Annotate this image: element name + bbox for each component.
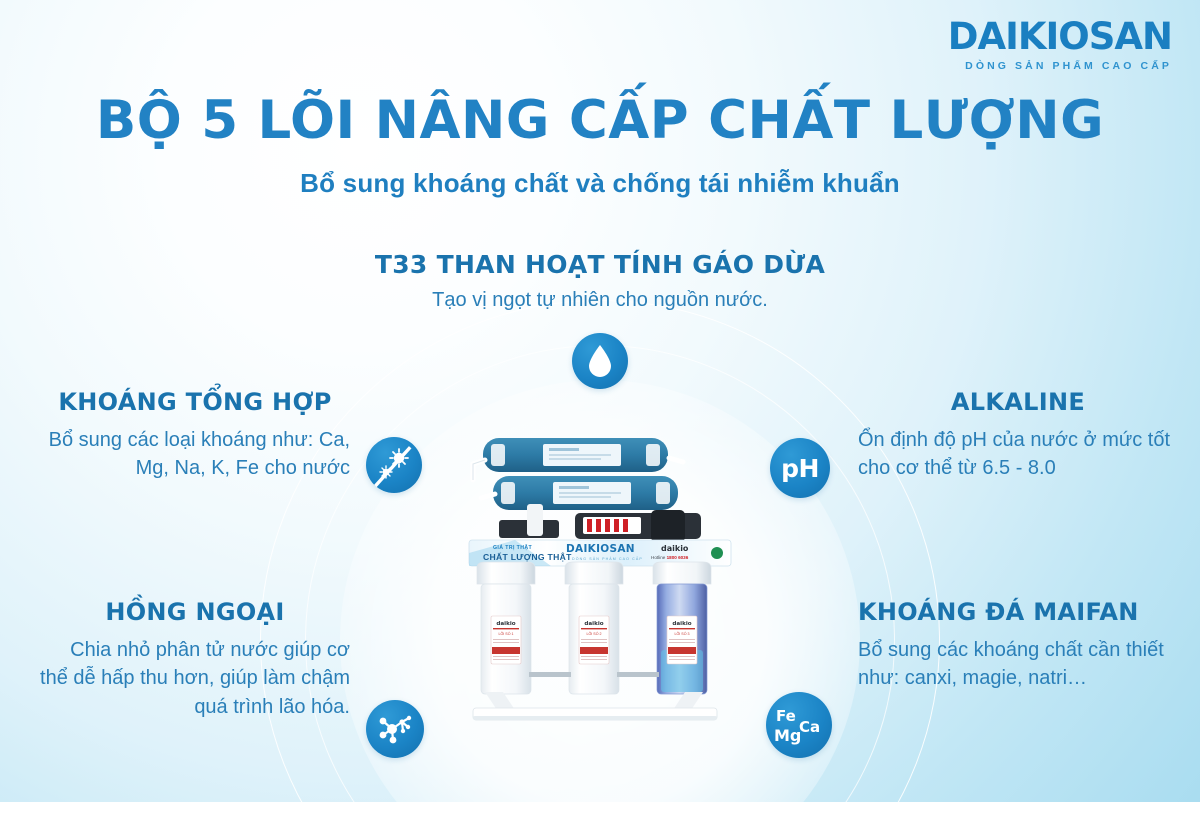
feature-description: Bổ sung các khoáng chất cần thiết như: c… [858, 636, 1178, 693]
svg-text:GIÁ TRỊ THẬT: GIÁ TRỊ THẬT [493, 544, 533, 551]
svg-text:daikio: daikio [496, 621, 515, 627]
feature-title: KHOÁNG TỔNG HỢP [40, 388, 350, 416]
svg-text:daikio: daikio [584, 621, 603, 627]
mineral-label-fe: Fe [776, 709, 796, 724]
water-purifier-product-image: GIÁ TRỊ THẬT CHẤT LƯỢNG THẬT DAIKIOSAN D… [455, 420, 745, 740]
feature-maifan-stone: KHOÁNG ĐÁ MAIFAN Bổ sung các khoáng chất… [858, 598, 1178, 693]
ph-icon-label: pH [781, 456, 819, 481]
feature-t33-activated-carbon: T33 THAN HOẠT TÍNH GÁO DỪA Tạo vị ngọt t… [0, 250, 1200, 314]
ph-icon: pH [770, 438, 830, 498]
svg-text:LÕI SỐ 1: LÕI SỐ 1 [499, 631, 514, 636]
mineral-label-mg: Mg [774, 728, 801, 744]
minerals-icon: Fe Ca Mg [766, 692, 832, 758]
feature-description: Bổ sung các loại khoáng như: Ca, Mg, Na,… [40, 426, 350, 483]
filter-housings: daikio LÕI SỐ 1 daikio LÕI SỐ 2 [477, 562, 711, 694]
feature-title: ALKALINE [858, 388, 1178, 416]
filter-housing-1: daikio LÕI SỐ 1 [477, 562, 535, 694]
brand-logo-wordmark: DAIKIOSAN [948, 18, 1172, 55]
mineral-label-ca: Ca [799, 720, 820, 735]
feature-infrared: HỒNG NGOẠI Chia nhỏ phân tử nước giúp cơ… [40, 598, 350, 721]
feature-description: Chia nhỏ phân tử nước giúp cơ thể dễ hấp… [40, 636, 350, 721]
feature-description: Tạo vị ngọt tự nhiên cho nguồn nước. [0, 286, 1200, 314]
svg-text:Hotline 1800 6036: Hotline 1800 6036 [651, 555, 689, 560]
svg-text:daikio: daikio [661, 544, 689, 553]
feature-title: T33 THAN HOẠT TÍNH GÁO DỪA [0, 250, 1200, 279]
feature-description: Ổn định độ pH của nước ở mức tốt cho cơ … [858, 426, 1178, 483]
water-drop-icon [572, 333, 628, 389]
filter-housing-2: daikio LÕI SỐ 2 [565, 562, 623, 694]
filter-housing-3: daikio LÕI SỐ 3 [653, 562, 711, 694]
page-subtitle: Bổ sung khoáng chất và chống tái nhiễm k… [0, 168, 1200, 199]
anti-bacteria-icon [366, 437, 422, 493]
feature-alkaline: ALKALINE Ổn định độ pH của nước ở mức tố… [858, 388, 1178, 483]
page-title: BỘ 5 LÕI NÂNG CẤP CHẤT LƯỢNG [0, 93, 1200, 149]
svg-text:CHẤT LƯỢNG THẬT: CHẤT LƯỢNG THẬT [483, 551, 572, 562]
svg-text:DAIKIOSAN: DAIKIOSAN [566, 543, 635, 555]
molecule-icon [366, 700, 424, 758]
feature-mineral-blend: KHOÁNG TỔNG HỢP Bổ sung các loại khoáng … [40, 388, 350, 483]
svg-text:daikio: daikio [672, 621, 691, 627]
feature-title: KHOÁNG ĐÁ MAIFAN [858, 598, 1178, 626]
svg-text:LÕI SỐ 3: LÕI SỐ 3 [675, 631, 690, 636]
brand-logo-tagline: DÒNG SẢN PHẨM CAO CẤP [948, 60, 1172, 72]
feature-title: HỒNG NGOẠI [40, 598, 350, 626]
membrane-assembly [473, 438, 683, 510]
bottom-white-strip [0, 802, 1200, 822]
svg-text:LÕI SỐ 2: LÕI SỐ 2 [587, 631, 602, 636]
infographic-canvas: DAIKIOSAN DÒNG SẢN PHẨM CAO CẤP BỘ 5 LÕI… [0, 0, 1200, 822]
brand-logo: DAIKIOSAN DÒNG SẢN PHẨM CAO CẤP [948, 18, 1172, 72]
svg-text:DÒNG SẢN PHẨM CAO CẤP: DÒNG SẢN PHẨM CAO CẤP [572, 556, 643, 561]
